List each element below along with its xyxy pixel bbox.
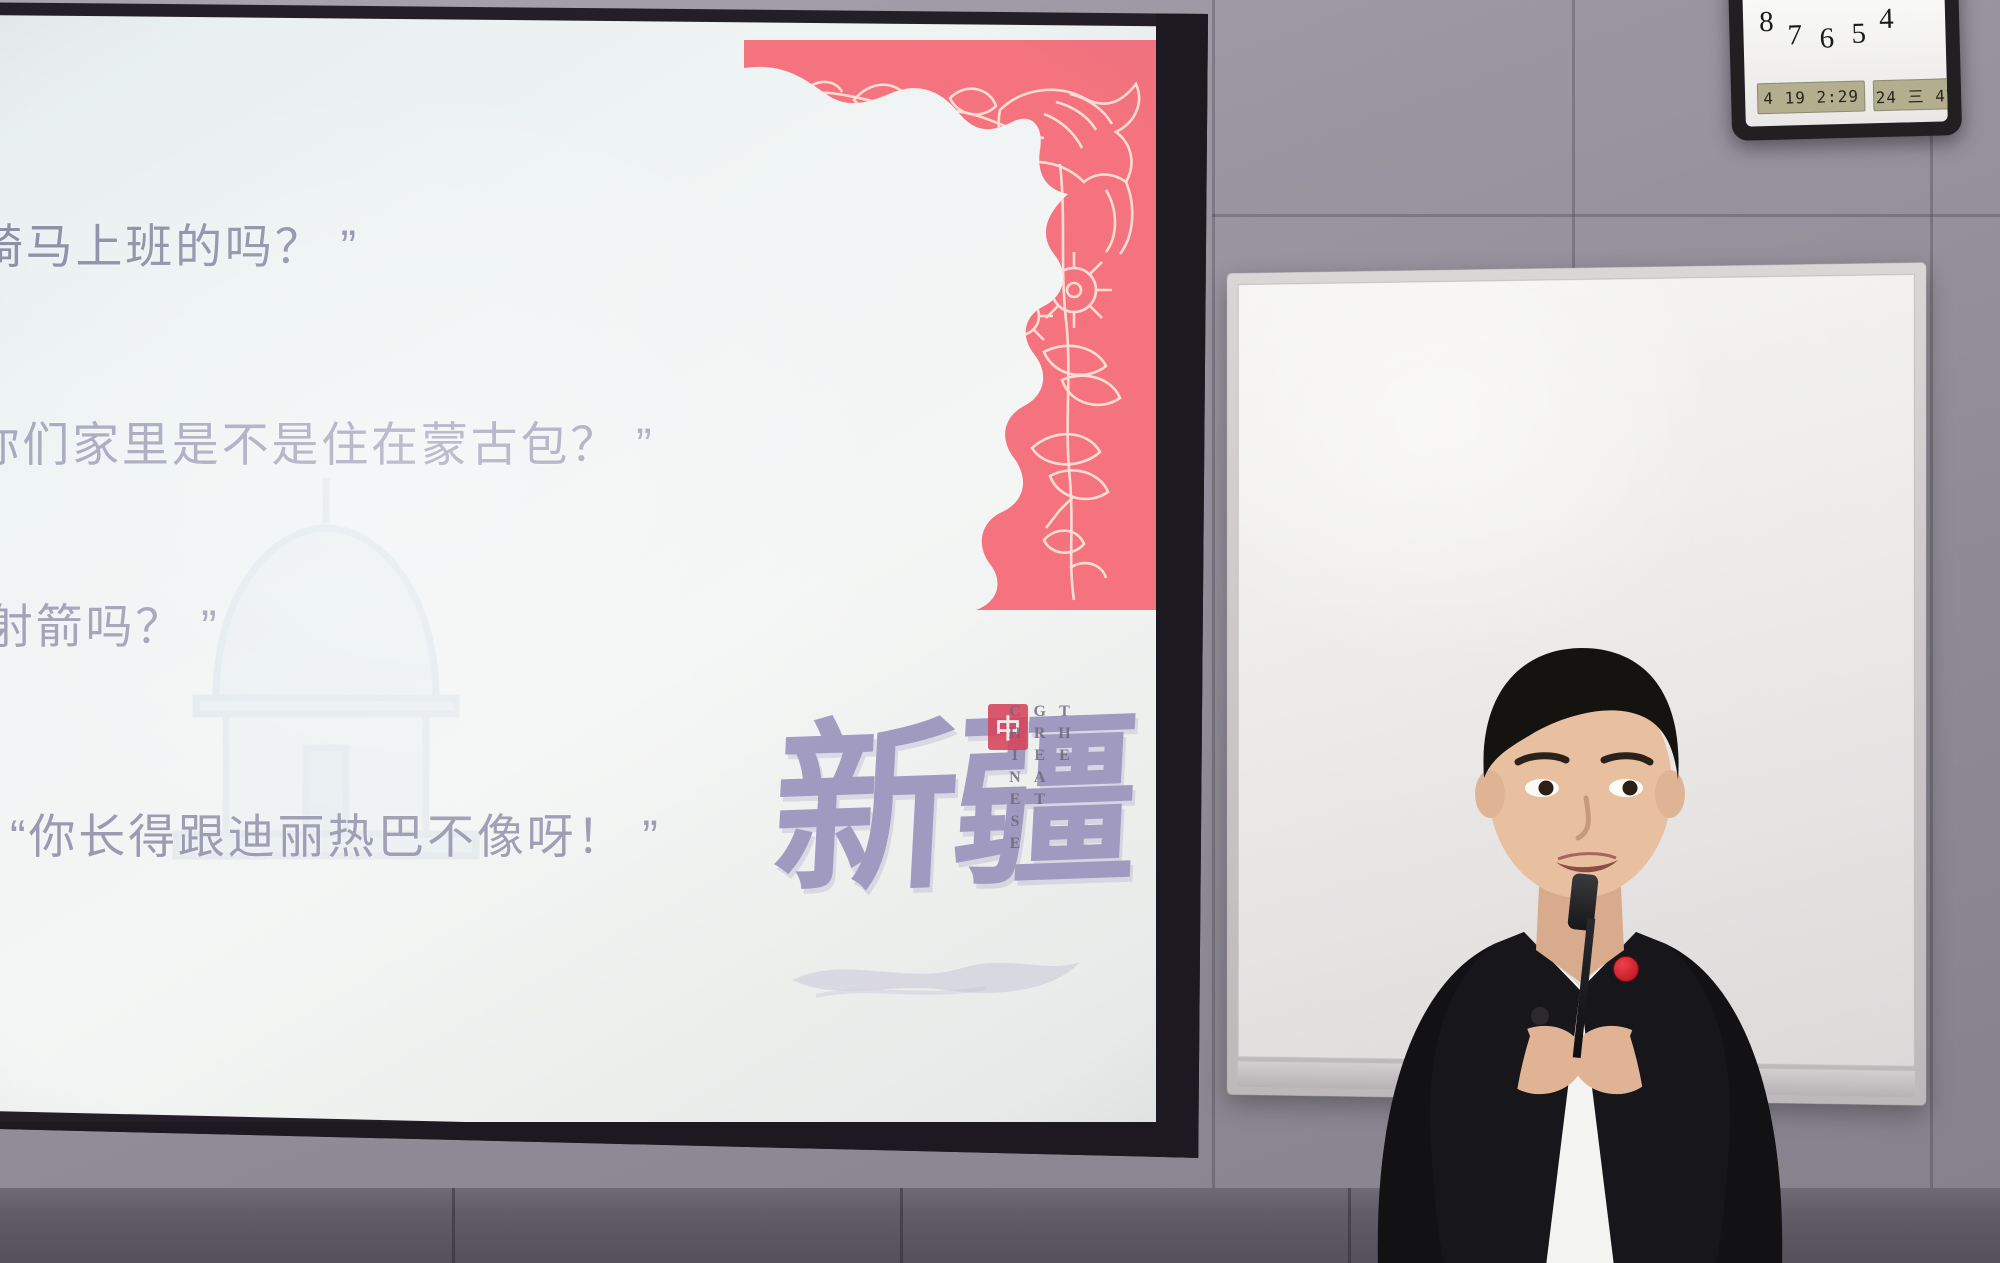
- presentation-slide: 是骑马上班的吗？ ” “你们家里是不是住在蒙古包？ ” 要射箭吗？ ” “你长得…: [0, 8, 1166, 1154]
- background-dome-illustration: [76, 448, 576, 948]
- baseboard-seam-2: [900, 1188, 903, 1263]
- wall-seam-vertical-1: [1212, 0, 1215, 1190]
- floral-bird-corner-ornament: [744, 40, 1166, 610]
- wall-seam-vertical-3: [1930, 0, 1933, 1190]
- slide-quote-4: “你长得跟迪丽热巴不像呀！ ”: [10, 798, 661, 867]
- slide-quote-3: 要射箭吗？ ”: [0, 588, 219, 657]
- clock-face: 9 8 7 6 5 4 3 4 19 2:29 24 三 47: [1742, 0, 1948, 127]
- projection-screen-frame: 是骑马上班的吗？ ” “你们家里是不是住在蒙古包？ ” 要射箭吗？ ” “你长得…: [0, 0, 1208, 1166]
- clock-lcd-right: 24 三 47: [1873, 78, 1948, 111]
- english-vertical-label: THE GREAT CHINESE: [1030, 703, 1076, 883]
- presenter: [1318, 566, 1838, 1263]
- wall-seam-horizontal: [1212, 214, 2000, 217]
- slide-quote-2: “你们家里是不是住在蒙古包？ ”: [0, 406, 654, 475]
- ink-smear: [786, 934, 1086, 1006]
- classroom-scene: 是骑马上班的吗？ ” “你们家里是不是住在蒙古包？ ” 要射箭吗？ ” “你长得…: [0, 0, 2000, 1263]
- wall-clock: 9 8 7 6 5 4 3 4 19 2:29 24 三 47: [1728, 0, 1962, 141]
- party-emblem-badge: [1613, 956, 1639, 982]
- baseboard-seam-1: [452, 1188, 455, 1263]
- calligraphy-title: 新疆: [769, 718, 1137, 901]
- slide-quote-1: 是骑马上班的吗？ ”: [0, 208, 359, 277]
- clock-lcd-left: 4 19 2:29: [1757, 80, 1866, 114]
- calligraphy-block: 新疆 中 THE GREAT CHINESE: [766, 698, 1136, 1018]
